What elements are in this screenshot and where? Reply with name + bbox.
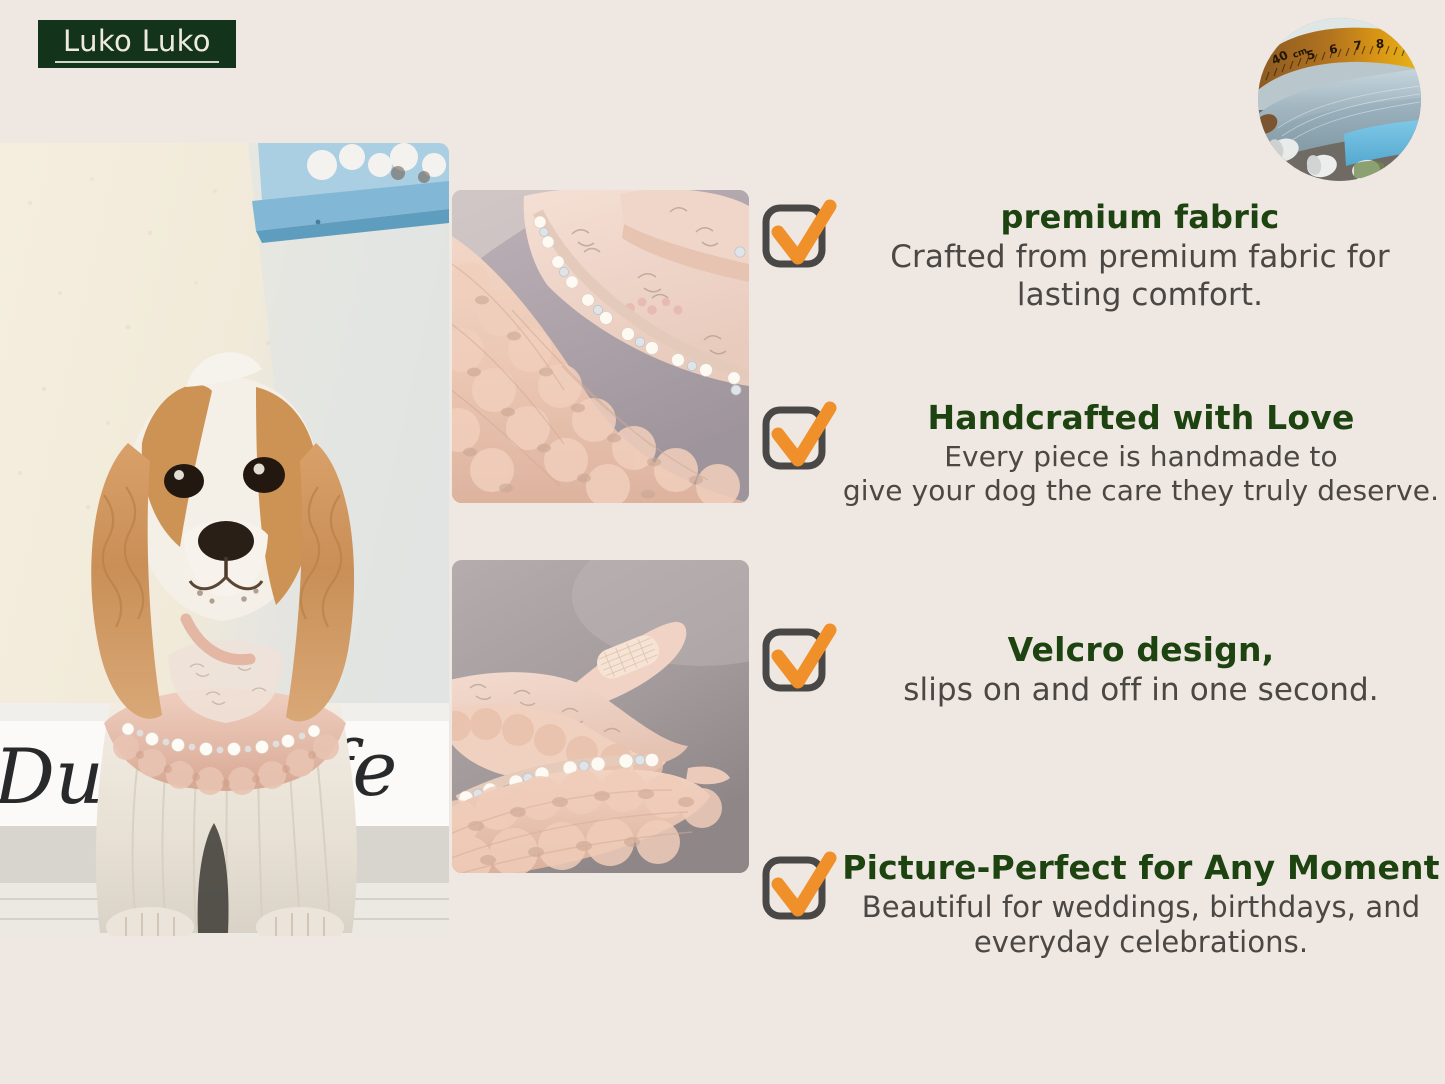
feature-description: slips on and off in one second. <box>838 672 1444 710</box>
feature-row-picture-perfect: Picture-Perfect for Any Moment Beautiful… <box>760 850 1444 961</box>
feature-title: Velcro design, <box>838 632 1444 669</box>
svg-text:7: 7 <box>1353 38 1363 53</box>
feature-title: premium fabric <box>838 200 1442 236</box>
brand-logo: Luko Luko <box>38 20 236 68</box>
collar-flat-lay-photo <box>452 560 749 873</box>
feature-description-line: give your dog the care they truly deserv… <box>838 474 1444 508</box>
lace-closeup-photo <box>452 190 749 503</box>
dog-wearing-collar-photo: Du lfe <box>0 143 449 936</box>
feature-description-line: slips on and off in one second. <box>838 672 1444 710</box>
brand-underline <box>55 61 219 63</box>
feature-row-handcrafted-with-love: Handcrafted with Love Every piece is han… <box>760 400 1444 508</box>
svg-text:8: 8 <box>1376 37 1385 51</box>
feature-description: Beautiful for weddings, birthdays, and e… <box>838 890 1444 961</box>
feature-description-line: lasting comfort. <box>838 277 1442 315</box>
feature-description-line: Every piece is handmade to <box>838 440 1444 474</box>
feature-description-line: everyday celebrations. <box>838 925 1444 960</box>
feature-text-block: Picture-Perfect for Any Moment Beautiful… <box>838 850 1444 961</box>
feature-text-block: Handcrafted with Love Every piece is han… <box>838 400 1444 508</box>
orange-checkmark-icon <box>760 850 838 928</box>
orange-checkmark-icon <box>760 400 838 478</box>
feature-row-premium-fabric: premium fabric Crafted from premium fabr… <box>760 198 1442 314</box>
feature-description: Every piece is handmade to give your dog… <box>838 440 1444 508</box>
feature-text-block: premium fabric Crafted from premium fabr… <box>838 198 1442 314</box>
orange-checkmark-icon <box>760 622 838 700</box>
feature-description: Crafted from premium fabric for lasting … <box>838 239 1442 315</box>
feature-text-block: Velcro design, slips on and off in one s… <box>838 622 1444 710</box>
feature-title: Picture-Perfect for Any Moment <box>838 850 1444 887</box>
feature-row-velcro-design: Velcro design, slips on and off in one s… <box>760 622 1444 710</box>
brand-name: Luko Luko <box>63 27 211 56</box>
feature-description-line: Crafted from premium fabric for <box>838 239 1442 277</box>
feature-title: Handcrafted with Love <box>838 400 1444 437</box>
feature-description-line: Beautiful for weddings, birthdays, and <box>838 890 1444 925</box>
svg-text:Du: Du <box>0 732 104 821</box>
sewing-threads-badge-image: 40 cm 5 6 7 8 <box>1258 18 1421 181</box>
orange-checkmark-icon <box>760 198 838 276</box>
